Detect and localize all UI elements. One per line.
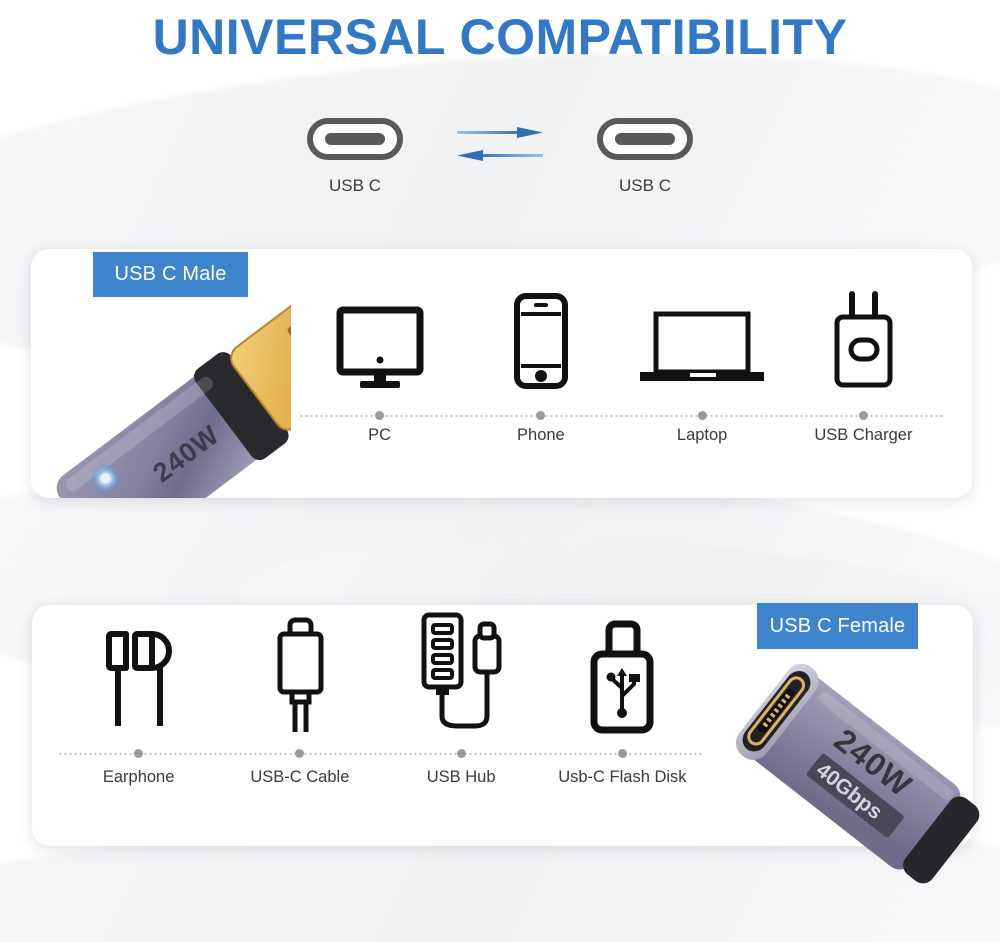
device-column-usb-hub: USB Hub [381, 614, 542, 787]
connector-dot [536, 411, 545, 420]
device-label-earphone: Earphone [103, 768, 175, 787]
device-label-usb-hub: USB Hub [427, 768, 496, 787]
usb-hub-icon [415, 614, 507, 734]
usb-c-left-label: USB C [329, 176, 381, 196]
connector-dot [375, 411, 384, 420]
connector-dot [618, 749, 627, 758]
connector-dot [295, 749, 304, 758]
bottom-card-device-grid: Earphone USB-C Cable [58, 614, 703, 787]
device-label-laptop: Laptop [677, 426, 727, 445]
device-label-phone: Phone [517, 426, 565, 445]
device-label-usb-flash-disk: Usb-C Flash Disk [558, 768, 686, 787]
usb-flash-disk-icon [585, 614, 659, 734]
device-label-usb-charger: USB Charger [814, 426, 912, 445]
usb-c-header-row: USB C [0, 118, 1000, 196]
arrow-left-icon [457, 149, 543, 163]
page-title: UNIVERSAL COMPATIBILITY [0, 8, 1000, 66]
earphone-icon [96, 614, 182, 734]
usb-c-right-group: USB C [555, 118, 735, 196]
connector-dot [457, 749, 466, 758]
laptop-icon [638, 278, 766, 390]
bidirectional-arrows [445, 126, 555, 163]
top-card-connector-line [299, 410, 944, 422]
dotted-line [299, 415, 944, 417]
usb-c-port-icon [307, 118, 403, 160]
device-column-earphone: Earphone [58, 614, 219, 787]
phone-icon [513, 278, 569, 390]
device-label-pc: PC [368, 426, 391, 445]
device-column-usb-flash-disk: Usb-C Flash Disk [542, 614, 703, 787]
connector-dot [134, 749, 143, 758]
device-column-usb-c-cable: USB-C Cable [219, 614, 380, 787]
device-label-usb-c-cable: USB-C Cable [250, 768, 349, 787]
connector-dot [698, 411, 707, 420]
wall-charger-icon [827, 278, 899, 390]
monitor-icon [334, 278, 426, 390]
dotted-line [58, 753, 703, 755]
usb-c-port-icon [597, 118, 693, 160]
usb-c-right-label: USB C [619, 176, 671, 196]
bottom-card-connector-line [58, 748, 703, 760]
connector-dot [859, 411, 868, 420]
arrow-right-icon [457, 126, 543, 140]
usb-c-female-badge: USB C Female [757, 603, 918, 649]
usb-c-left-group: USB C [265, 118, 445, 196]
usb-c-cable-icon [271, 614, 329, 734]
usb-c-female-connector-photo: 240W 40Gbps [735, 660, 1000, 890]
usb-c-male-badge: USB C Male [93, 252, 248, 297]
